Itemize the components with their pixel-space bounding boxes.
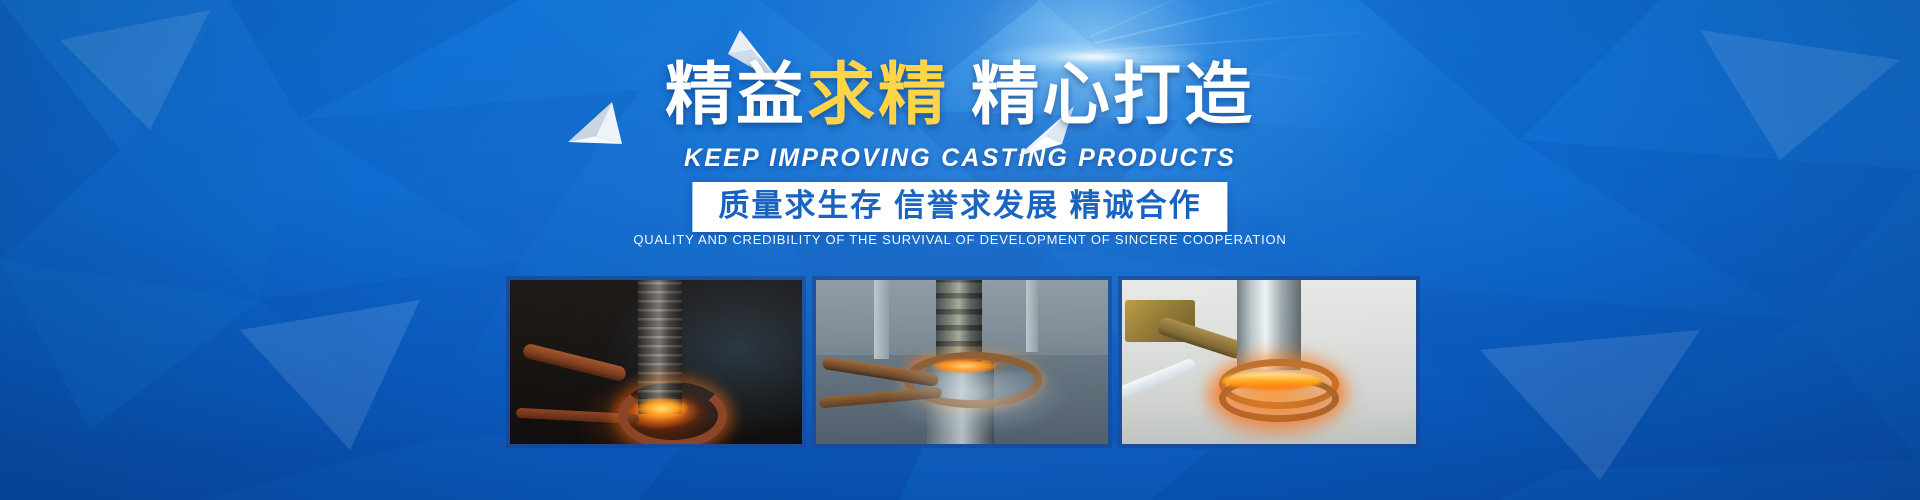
photo-1-frame[interactable]: [506, 276, 806, 448]
photo-2-frame[interactable]: [812, 276, 1112, 448]
slogan-english: QUALITY AND CREDIBILITY OF THE SURVIVAL …: [0, 232, 1920, 248]
photo-1-copper-lead: [521, 343, 627, 383]
subtitle-english: KEEP IMPROVING CASTING PRODUCTS: [0, 144, 1920, 172]
photo-3-coolant-tube: [1122, 357, 1198, 400]
photo-3-chrome-cylinder: [1237, 280, 1302, 370]
photo-3-frame[interactable]: [1118, 276, 1420, 448]
slogan-bar: 质量求生存 信誉求发展 精诚合作: [692, 182, 1227, 232]
photo-2-quenching-workshop: [816, 280, 1108, 444]
headline-part-3: 精心打造: [971, 57, 1255, 133]
photo-3-glowing-coil-bright: [1122, 280, 1416, 444]
headline: 精益求精精心打造: [0, 56, 1920, 134]
slogan-chinese: 质量求生存 信誉求发展 精诚合作: [718, 187, 1201, 225]
photo-2-steam: [886, 372, 1067, 444]
photo-2-machine-post-left: [874, 280, 889, 359]
photo-3-hot-glow: [1222, 372, 1322, 390]
photo-1-induction-hardening-dark: [510, 280, 802, 444]
photo-2-machine-post-right: [1026, 280, 1038, 352]
headline-part-1: 精益: [665, 57, 807, 133]
promo-banner: 精益求精精心打造 KEEP IMPROVING CASTING PRODUCTS…: [0, 0, 1920, 500]
photo-2-shaft: [936, 280, 983, 362]
photo-3-glow-spill: [1204, 388, 1339, 440]
headline-part-2-gold: 求精: [807, 57, 949, 133]
photo-strip: [506, 276, 1426, 448]
